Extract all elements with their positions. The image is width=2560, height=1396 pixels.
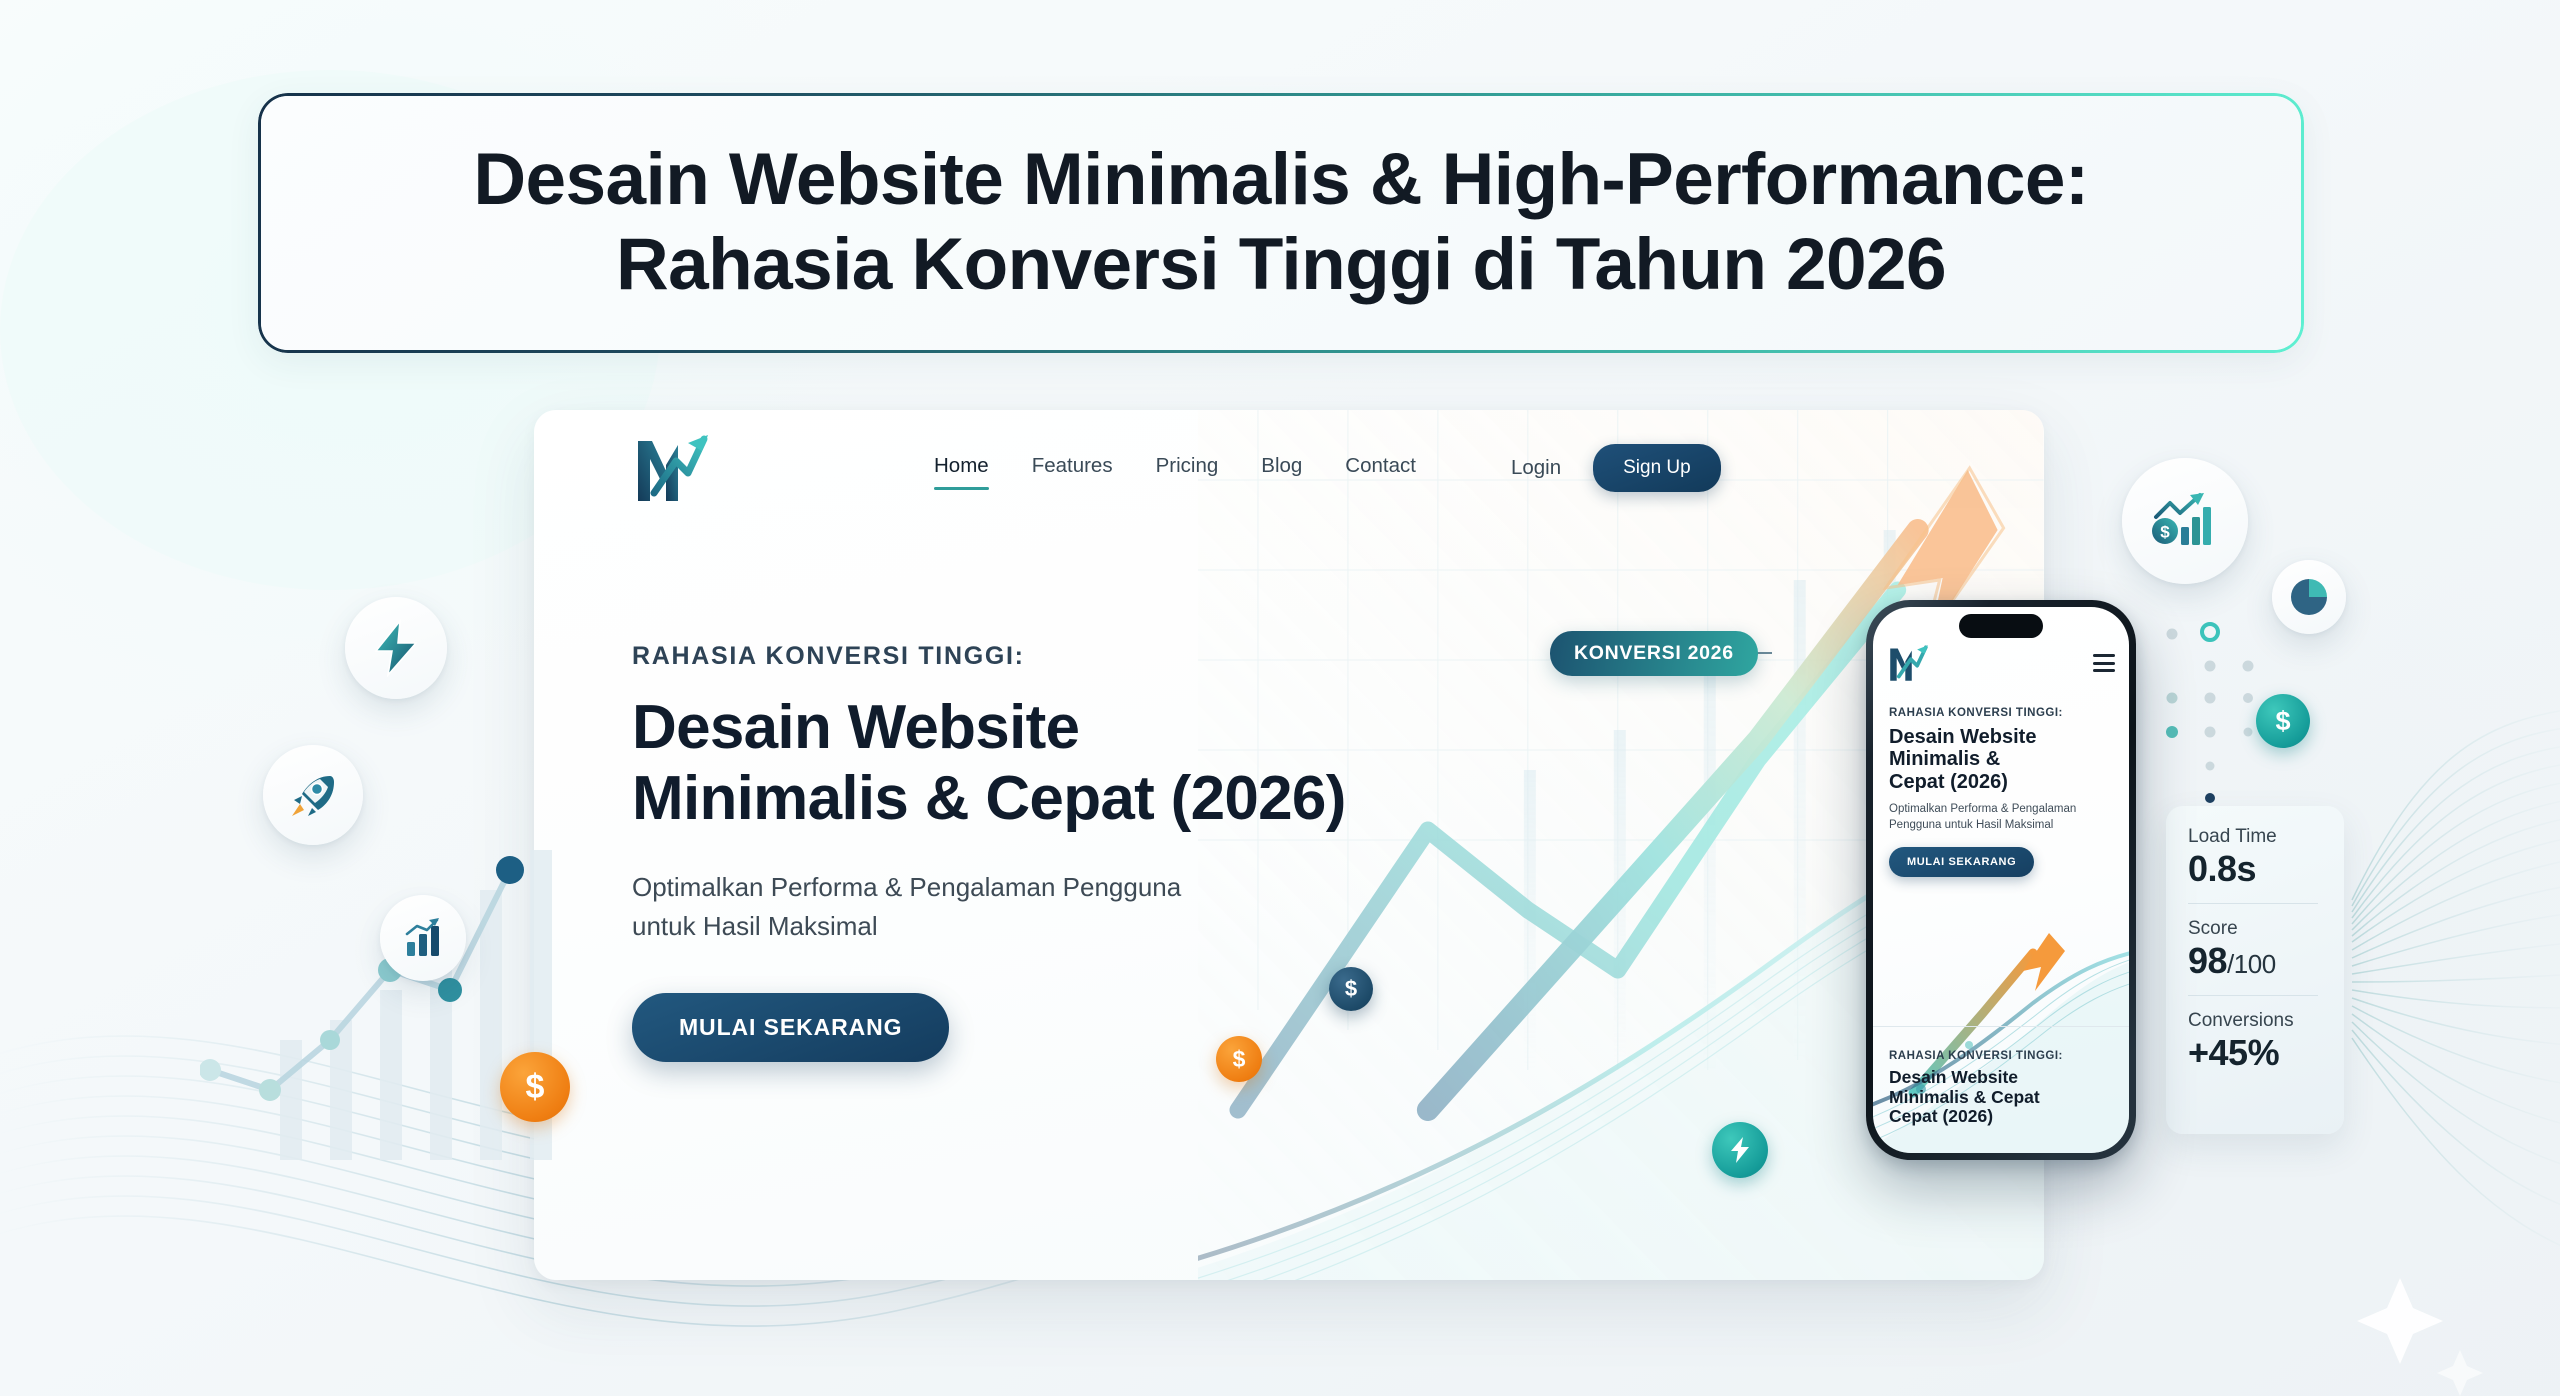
dollar-symbol: $ (526, 1068, 545, 1107)
hero-cta-button[interactable]: MULAI SEKARANG (632, 993, 949, 1062)
hero-section: RAHASIA KONVERSI TINGGI: Desain Website … (632, 642, 1512, 1062)
money-growth-chart-icon: $ (2152, 491, 2218, 551)
hero-heading: Desain Website Minimalis & Cepat (2026) (632, 693, 1512, 834)
dollar-symbol: $ (1233, 1046, 1246, 1073)
phone-hero: RAHASIA KONVERSI TINGGI: Desain Website … (1889, 707, 2117, 877)
stat-load-time: Load Time 0.8s (2188, 826, 2344, 888)
stat-value: 0.8s (2188, 850, 2344, 888)
dollar-coin-orange-small: $ (1216, 1036, 1262, 1082)
dollar-coin-teal: $ (2256, 694, 2310, 748)
m-growth-arrow-logo[interactable] (632, 431, 710, 505)
nav-actions: Login Sign Up (1511, 444, 1721, 492)
dollar-coin-navy: $ (1329, 967, 1373, 1011)
signup-button[interactable]: Sign Up (1593, 444, 1721, 492)
stat-score: Score 98/100 (2188, 918, 2344, 980)
phone-bottom-eyebrow: RAHASIA KONVERSI TINGGI: (1889, 1050, 2117, 1062)
lightning-badge-teal (1712, 1122, 1768, 1178)
phone-heading: Desain Website Minimalis & Cepat (2026) (1889, 726, 2117, 793)
pie-chart-icon (2289, 577, 2329, 617)
m-growth-arrow-logo[interactable] (1887, 643, 1929, 683)
phone-bottom-line-1: Desain Website (1889, 1068, 2117, 1088)
phone-bottom-heading: Desain Website Minimalis & Cepat Cepat (… (1889, 1068, 2117, 1127)
floating-icon-money-growth[interactable]: $ (2122, 458, 2248, 584)
phone-cta-button[interactable]: MULAI SEKARANG (1889, 847, 2034, 877)
stat-number: 98 (2188, 940, 2227, 981)
hero-eyebrow: RAHASIA KONVERSI TINGGI: (632, 642, 1512, 671)
nav-item-blog[interactable]: Blog (1261, 454, 1302, 481)
stat-value: 98/100 (2188, 942, 2344, 980)
nav-item-contact[interactable]: Contact (1345, 454, 1416, 481)
phone-mockup: RAHASIA KONVERSI TINGGI: Desain Website … (1866, 600, 2136, 1160)
page-title-line-2: Rahasia Konversi Tinggi di Tahun 2026 (616, 223, 1946, 308)
website-mockup-card: Home Features Pricing Blog Contact Login… (534, 410, 2044, 1280)
phone-bottom-line-3: Cepat (2026) (1889, 1107, 2117, 1127)
mockup-navbar: Home Features Pricing Blog Contact Login… (534, 410, 2044, 525)
floating-icon-pie-chart[interactable] (2272, 560, 2346, 634)
nav-item-pricing[interactable]: Pricing (1156, 454, 1219, 481)
stat-label: Score (2188, 918, 2344, 940)
hamburger-menu-icon[interactable] (2093, 654, 2115, 672)
phone-section-divider (1873, 1026, 2129, 1027)
phone-heading-line-1: Desain Website (1889, 726, 2117, 748)
phone-bottom-line-2: Minimalis & Cepat (1889, 1088, 2117, 1108)
phone-subtitle: Optimalkan Performa & Pengalaman Penggun… (1889, 802, 2117, 834)
phone-navbar (1887, 643, 2115, 683)
hero-subtitle-line-2: untuk Hasil Maksimal (632, 907, 1272, 945)
stat-suffix: /100 (2227, 949, 2276, 979)
stat-divider (2188, 995, 2318, 996)
dollar-symbol: $ (1345, 976, 1357, 1002)
stat-divider (2188, 903, 2318, 904)
stat-value: +45% (2188, 1034, 2344, 1072)
phone-bottom-section: RAHASIA KONVERSI TINGGI: Desain Website … (1889, 1050, 2117, 1127)
stat-conversions: Conversions +45% (2188, 1010, 2344, 1072)
phone-notch (1959, 614, 2043, 638)
phone-eyebrow: RAHASIA KONVERSI TINGGI: (1889, 707, 2117, 719)
performance-stats-card: Load Time 0.8s Score 98/100 Conversions … (2166, 806, 2344, 1134)
rocket-icon (286, 768, 340, 822)
lightning-bolt-icon (370, 619, 422, 677)
floating-icon-bar-chart[interactable] (380, 895, 466, 981)
floating-icon-rocket[interactable] (263, 745, 363, 845)
lightning-bolt-icon (1728, 1136, 1752, 1164)
page-title-banner: Desain Website Minimalis & High-Performa… (258, 93, 2304, 353)
svg-text:$: $ (2160, 523, 2170, 542)
hero-subtitle-line-1: Optimalkan Performa & Pengalaman Penggun… (632, 868, 1272, 906)
hero-subtitle: Optimalkan Performa & Pengalaman Penggun… (632, 868, 1272, 945)
page-title-line-1: Desain Website Minimalis & High-Performa… (473, 138, 2088, 223)
nav-item-home[interactable]: Home (934, 454, 989, 481)
hero-heading-line-2: Minimalis & Cepat (2026) (632, 764, 1512, 835)
phone-heading-line-3: Cepat (2026) (1889, 771, 2117, 793)
dollar-coin-orange-large: $ (500, 1052, 570, 1122)
stat-label: Load Time (2188, 826, 2344, 848)
nav-links: Home Features Pricing Blog Contact (934, 454, 1416, 481)
konversi-badge: KONVERSI 2026 (1550, 631, 1758, 676)
bar-chart-growth-icon (401, 916, 445, 960)
login-link[interactable]: Login (1511, 456, 1561, 480)
nav-item-features[interactable]: Features (1032, 454, 1113, 481)
phone-heading-line-2: Minimalis & (1889, 748, 2117, 770)
hero-heading-line-1: Desain Website (632, 693, 1512, 764)
stat-label: Conversions (2188, 1010, 2344, 1032)
dollar-symbol: $ (2275, 706, 2290, 737)
floating-icon-lightning[interactable] (345, 597, 447, 699)
